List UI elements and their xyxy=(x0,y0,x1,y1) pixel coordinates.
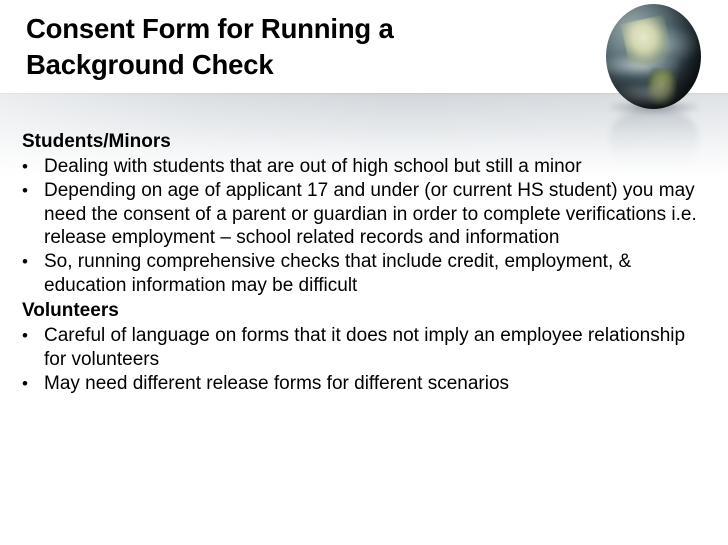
globe-cloud-band-a xyxy=(606,54,680,77)
globe-landmass-north-america xyxy=(621,15,673,69)
presentation-slide: Consent Form for Running a Background Ch… xyxy=(0,0,728,545)
slide-title-line-1: Consent Form for Running a xyxy=(26,11,586,47)
bullet-dot-icon: • xyxy=(22,372,34,396)
bullet-text: So, running comprehensive checks that in… xyxy=(44,251,631,296)
shelf-top-edge xyxy=(0,93,728,94)
bullet-list-volunteers: • Careful of language on forms that it d… xyxy=(20,324,712,395)
bullet-dot-icon: • xyxy=(22,179,34,203)
list-item: • Dealing with students that are out of … xyxy=(20,155,712,179)
bullet-text: Dealing with students that are out of hi… xyxy=(44,156,582,177)
list-item: • May need different release forms for d… xyxy=(20,372,712,396)
bullet-text: May need different release forms for dif… xyxy=(44,373,509,394)
globe-cloud-band-c xyxy=(614,86,681,107)
bullet-text: Careful of language on forms that it doe… xyxy=(44,325,685,370)
bullet-dot-icon: • xyxy=(22,324,34,348)
globe-shading-overlay xyxy=(606,4,701,109)
list-item: • Careful of language on forms that it d… xyxy=(20,324,712,371)
bullet-dot-icon: • xyxy=(22,155,34,179)
slide-title-line-2: Background Check xyxy=(26,47,586,83)
globe-cloud-band-b xyxy=(638,27,697,63)
bullet-text: Depending on age of applicant 17 and und… xyxy=(44,180,697,248)
list-item: • So, running comprehensive checks that … xyxy=(20,250,712,297)
globe-contact-shadow xyxy=(610,102,698,115)
list-item: • Depending on age of applicant 17 and u… xyxy=(20,179,712,250)
section-heading-volunteers: Volunteers xyxy=(20,299,712,323)
bullet-list-students-minors: • Dealing with students that are out of … xyxy=(20,155,712,297)
section-heading-students-minors: Students/Minors xyxy=(20,130,712,154)
bullet-dot-icon: • xyxy=(22,250,34,274)
globe-landmass-south-america xyxy=(644,67,678,107)
globe-sphere xyxy=(606,4,701,109)
slide-title: Consent Form for Running a Background Ch… xyxy=(26,11,586,83)
slide-body: Students/Minors • Dealing with students … xyxy=(20,130,712,397)
